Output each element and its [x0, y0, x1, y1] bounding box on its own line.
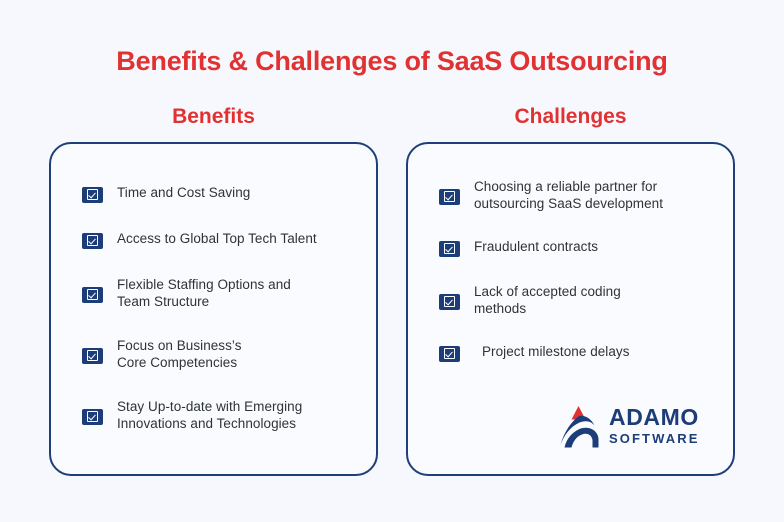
list-item: Project milestone delays: [439, 343, 719, 362]
logo-name: ADAMO: [609, 406, 699, 429]
list-item: Access to Global Top Tech Talent: [82, 230, 358, 249]
logo-subtitle: SOFTWARE: [609, 432, 699, 445]
list-item: Time and Cost Saving: [82, 184, 358, 203]
adamo-logo-mark: [558, 402, 600, 448]
infographic-page: Benefits & Challenges of SaaS Outsourcin…: [0, 0, 784, 522]
list-item-label: Choosing a reliable partner for outsourc…: [474, 178, 663, 212]
benefits-column-heading: Benefits: [49, 103, 378, 130]
logo-text: ADAMO SOFTWARE: [609, 406, 699, 445]
checkbox-icon: [439, 241, 460, 257]
list-item-label: Access to Global Top Tech Talent: [117, 230, 317, 247]
benefits-list: Time and Cost Saving Access to Global To…: [51, 144, 376, 459]
adamo-logo: ADAMO SOFTWARE: [558, 400, 710, 450]
checkbox-icon: [82, 287, 103, 303]
list-item: Stay Up-to-date with Emerging Innovation…: [82, 398, 358, 432]
list-item-label: Fraudulent contracts: [474, 238, 598, 255]
checkbox-icon: [82, 409, 103, 425]
list-item-label: Time and Cost Saving: [117, 184, 250, 201]
list-item: Choosing a reliable partner for outsourc…: [439, 178, 719, 212]
list-item-label: Project milestone delays: [482, 343, 630, 360]
list-item: Lack of accepted coding methods: [439, 283, 719, 317]
checkbox-icon: [439, 346, 460, 362]
challenges-column-heading: Challenges: [406, 103, 735, 130]
list-item-label: Flexible Staffing Options and Team Struc…: [117, 276, 291, 310]
checkbox-icon: [439, 189, 460, 205]
checkbox-icon: [82, 233, 103, 249]
list-item: Fraudulent contracts: [439, 238, 719, 257]
challenges-card: Choosing a reliable partner for outsourc…: [406, 142, 735, 476]
checkbox-icon: [82, 187, 103, 203]
checkbox-icon: [439, 294, 460, 310]
list-item-label: Focus on Business’s Core Competencies: [117, 337, 242, 371]
list-item: Focus on Business’s Core Competencies: [82, 337, 358, 371]
page-title: Benefits & Challenges of SaaS Outsourcin…: [0, 44, 784, 78]
list-item-label: Stay Up-to-date with Emerging Innovation…: [117, 398, 302, 432]
challenges-list: Choosing a reliable partner for outsourc…: [408, 144, 733, 388]
list-item-label: Lack of accepted coding methods: [474, 283, 621, 317]
checkbox-icon: [82, 348, 103, 364]
benefits-card: Time and Cost Saving Access to Global To…: [49, 142, 378, 476]
list-item: Flexible Staffing Options and Team Struc…: [82, 276, 358, 310]
